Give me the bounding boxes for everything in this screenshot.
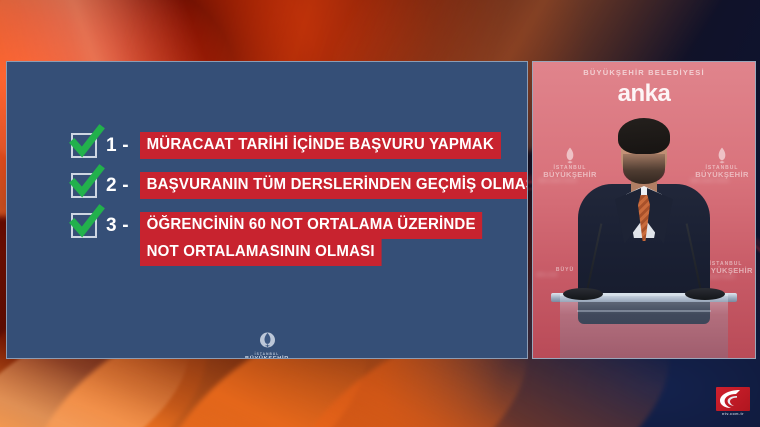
ibb-logo: İSTANBUL BÜYÜKŞEHİR BELEDİYESİ [245,330,289,359]
item-number: 3 - [106,212,140,239]
channel-logo: ntv.com.tr [716,387,750,417]
checklist-item: 1 - MÜRACAAT TARİHİ İÇİNDE BAŞVURU YAPMA… [71,132,511,159]
checklist-item: 3 - ÖĞRENCİNİN 60 NOT ORTALAMA ÜZERİNDE … [71,212,511,266]
microphone-base-left [563,288,603,300]
channel-swirl-icon [718,388,748,410]
channel-logo-badge [716,387,750,411]
screenshot-root: 1 - MÜRACAAT TARİHİ İÇİNDE BAŞVURU YAPMA… [0,0,760,427]
backdrop-logo-sub: BELEDİYESİ [539,179,578,184]
backdrop-top-label: BÜYÜKŞEHİR BELEDİYESİ [583,68,704,77]
item-text: MÜRACAAT TARİHİ İÇİNDE BAŞVURU YAPMAK [140,132,511,159]
item-number: 1 - [106,132,140,159]
backdrop-logo-sub: BELED [537,273,558,278]
checkbox-checked-icon [71,173,97,198]
backdrop-logo: İSTANBUL BÜYÜKŞEHİR BELEDİYESİ [539,146,601,179]
backdrop-logo-sub: BELEDİYESİ [691,179,730,184]
tulip-emblem-icon [714,146,730,165]
video-panel[interactable]: İSTANBUL BÜYÜKŞEHİR BELEDİYESİ İSTANBUL … [532,61,756,359]
slide-panel: 1 - MÜRACAAT TARİHİ İÇİNDE BAŞVURU YAPMA… [6,61,528,359]
microphone-base-right [685,288,725,300]
channel-name: ntv.com.tr [716,412,750,417]
speaker-beard [623,154,665,184]
item-number: 2 - [106,172,140,199]
item-line: BAŞVURANIN TÜM DERSLERİNDEN GEÇMİŞ OLMAS… [140,172,528,199]
tulip-emblem-icon [562,146,578,165]
podium [560,293,728,358]
item-text: ÖĞRENCİNİN 60 NOT ORTALAMA ÜZERİNDE NOT … [140,212,511,266]
checkbox-checked-icon [71,213,97,238]
checklist-item: 2 - BAŞVURANIN TÜM DERSLERİNDEN GEÇMİŞ O… [71,172,511,199]
tulip-emblem-icon [259,330,276,350]
item-text: BAŞVURANIN TÜM DERSLERİNDEN GEÇMİŞ OLMAS… [140,172,511,199]
item-line: ÖĞRENCİNİN 60 NOT ORTALAMA ÜZERİNDE [140,212,482,239]
requirements-checklist: 1 - MÜRACAAT TARİHİ İÇİNDE BAŞVURU YAPMA… [71,132,511,279]
item-line: MÜRACAAT TARİHİ İÇİNDE BAŞVURU YAPMAK [140,132,500,159]
speaker-hair [618,118,670,154]
anka-watermark: anka [618,82,671,106]
backdrop-logo: İSTANBUL BÜYÜKŞEHİR BELEDİYESİ [691,146,753,179]
checkbox-checked-icon [71,133,97,158]
item-line: NOT ORTALAMASININ OLMASI [140,239,381,266]
ibb-logo-line2: BÜYÜKŞEHİR [245,356,289,359]
